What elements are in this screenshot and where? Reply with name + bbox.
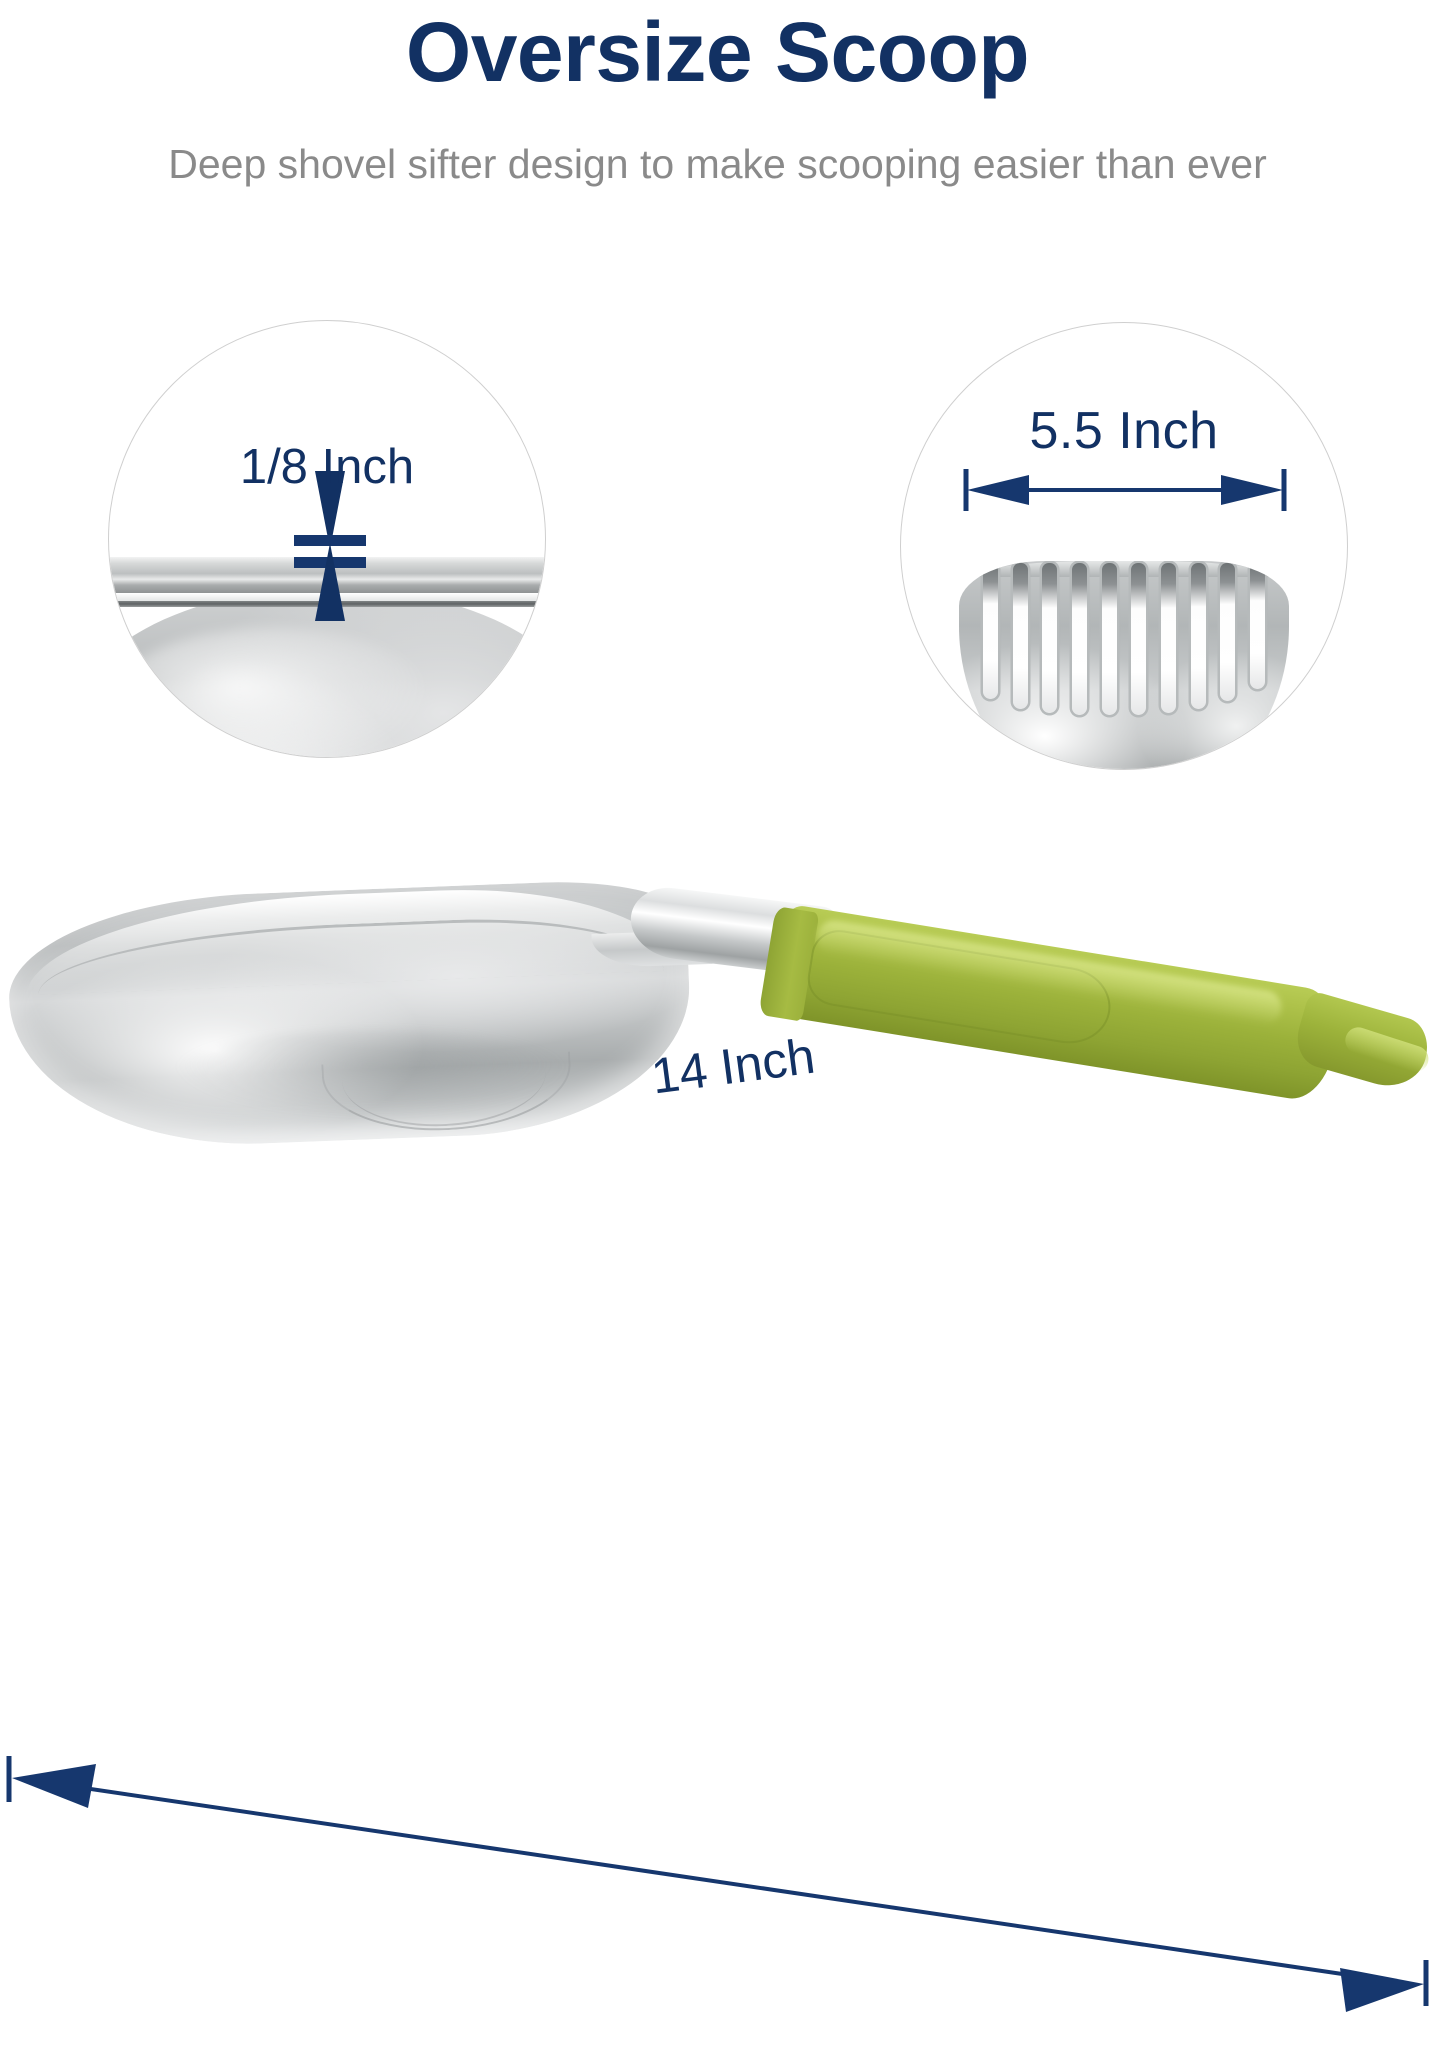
sifter-slot: [1131, 563, 1146, 715]
page-subtitle: Deep shovel sifter design to make scoopi…: [0, 96, 1435, 187]
sifter-slot: [1013, 563, 1028, 709]
scoop-handle: [790, 904, 1435, 1136]
page-title: Oversize Scoop: [0, 0, 1435, 96]
sifter-slot: [1042, 563, 1057, 713]
width-dimension-arrow-icon: [963, 467, 1287, 513]
thickness-marker-triangle-bottom: [315, 543, 345, 621]
scoop-bowl: [10, 890, 690, 1140]
width-dimension-label: 5.5 Inch: [901, 401, 1347, 461]
sifter-slot: [983, 563, 998, 699]
sifter-body: [959, 561, 1289, 770]
sifter-slot: [1072, 563, 1087, 715]
detail-circle-width: 5.5 Inch: [900, 322, 1348, 770]
header: Oversize Scoop Deep shovel sifter design…: [0, 0, 1435, 187]
sifter-slot-group: [983, 563, 1265, 715]
length-dimension-arrow-icon: [0, 1720, 1435, 2050]
sifter-slot: [1161, 563, 1176, 713]
sifter-slot: [1191, 563, 1206, 709]
sifter-head-photo: [959, 561, 1289, 770]
thickness-dimension-label: 1/8 Inch: [109, 439, 545, 495]
sifter-slot: [1102, 563, 1117, 715]
detail-circle-thickness: 1/8 Inch: [108, 320, 546, 758]
product-image: [0, 860, 1435, 1190]
sifter-slot: [1220, 563, 1235, 701]
sifter-slot: [1250, 563, 1265, 689]
